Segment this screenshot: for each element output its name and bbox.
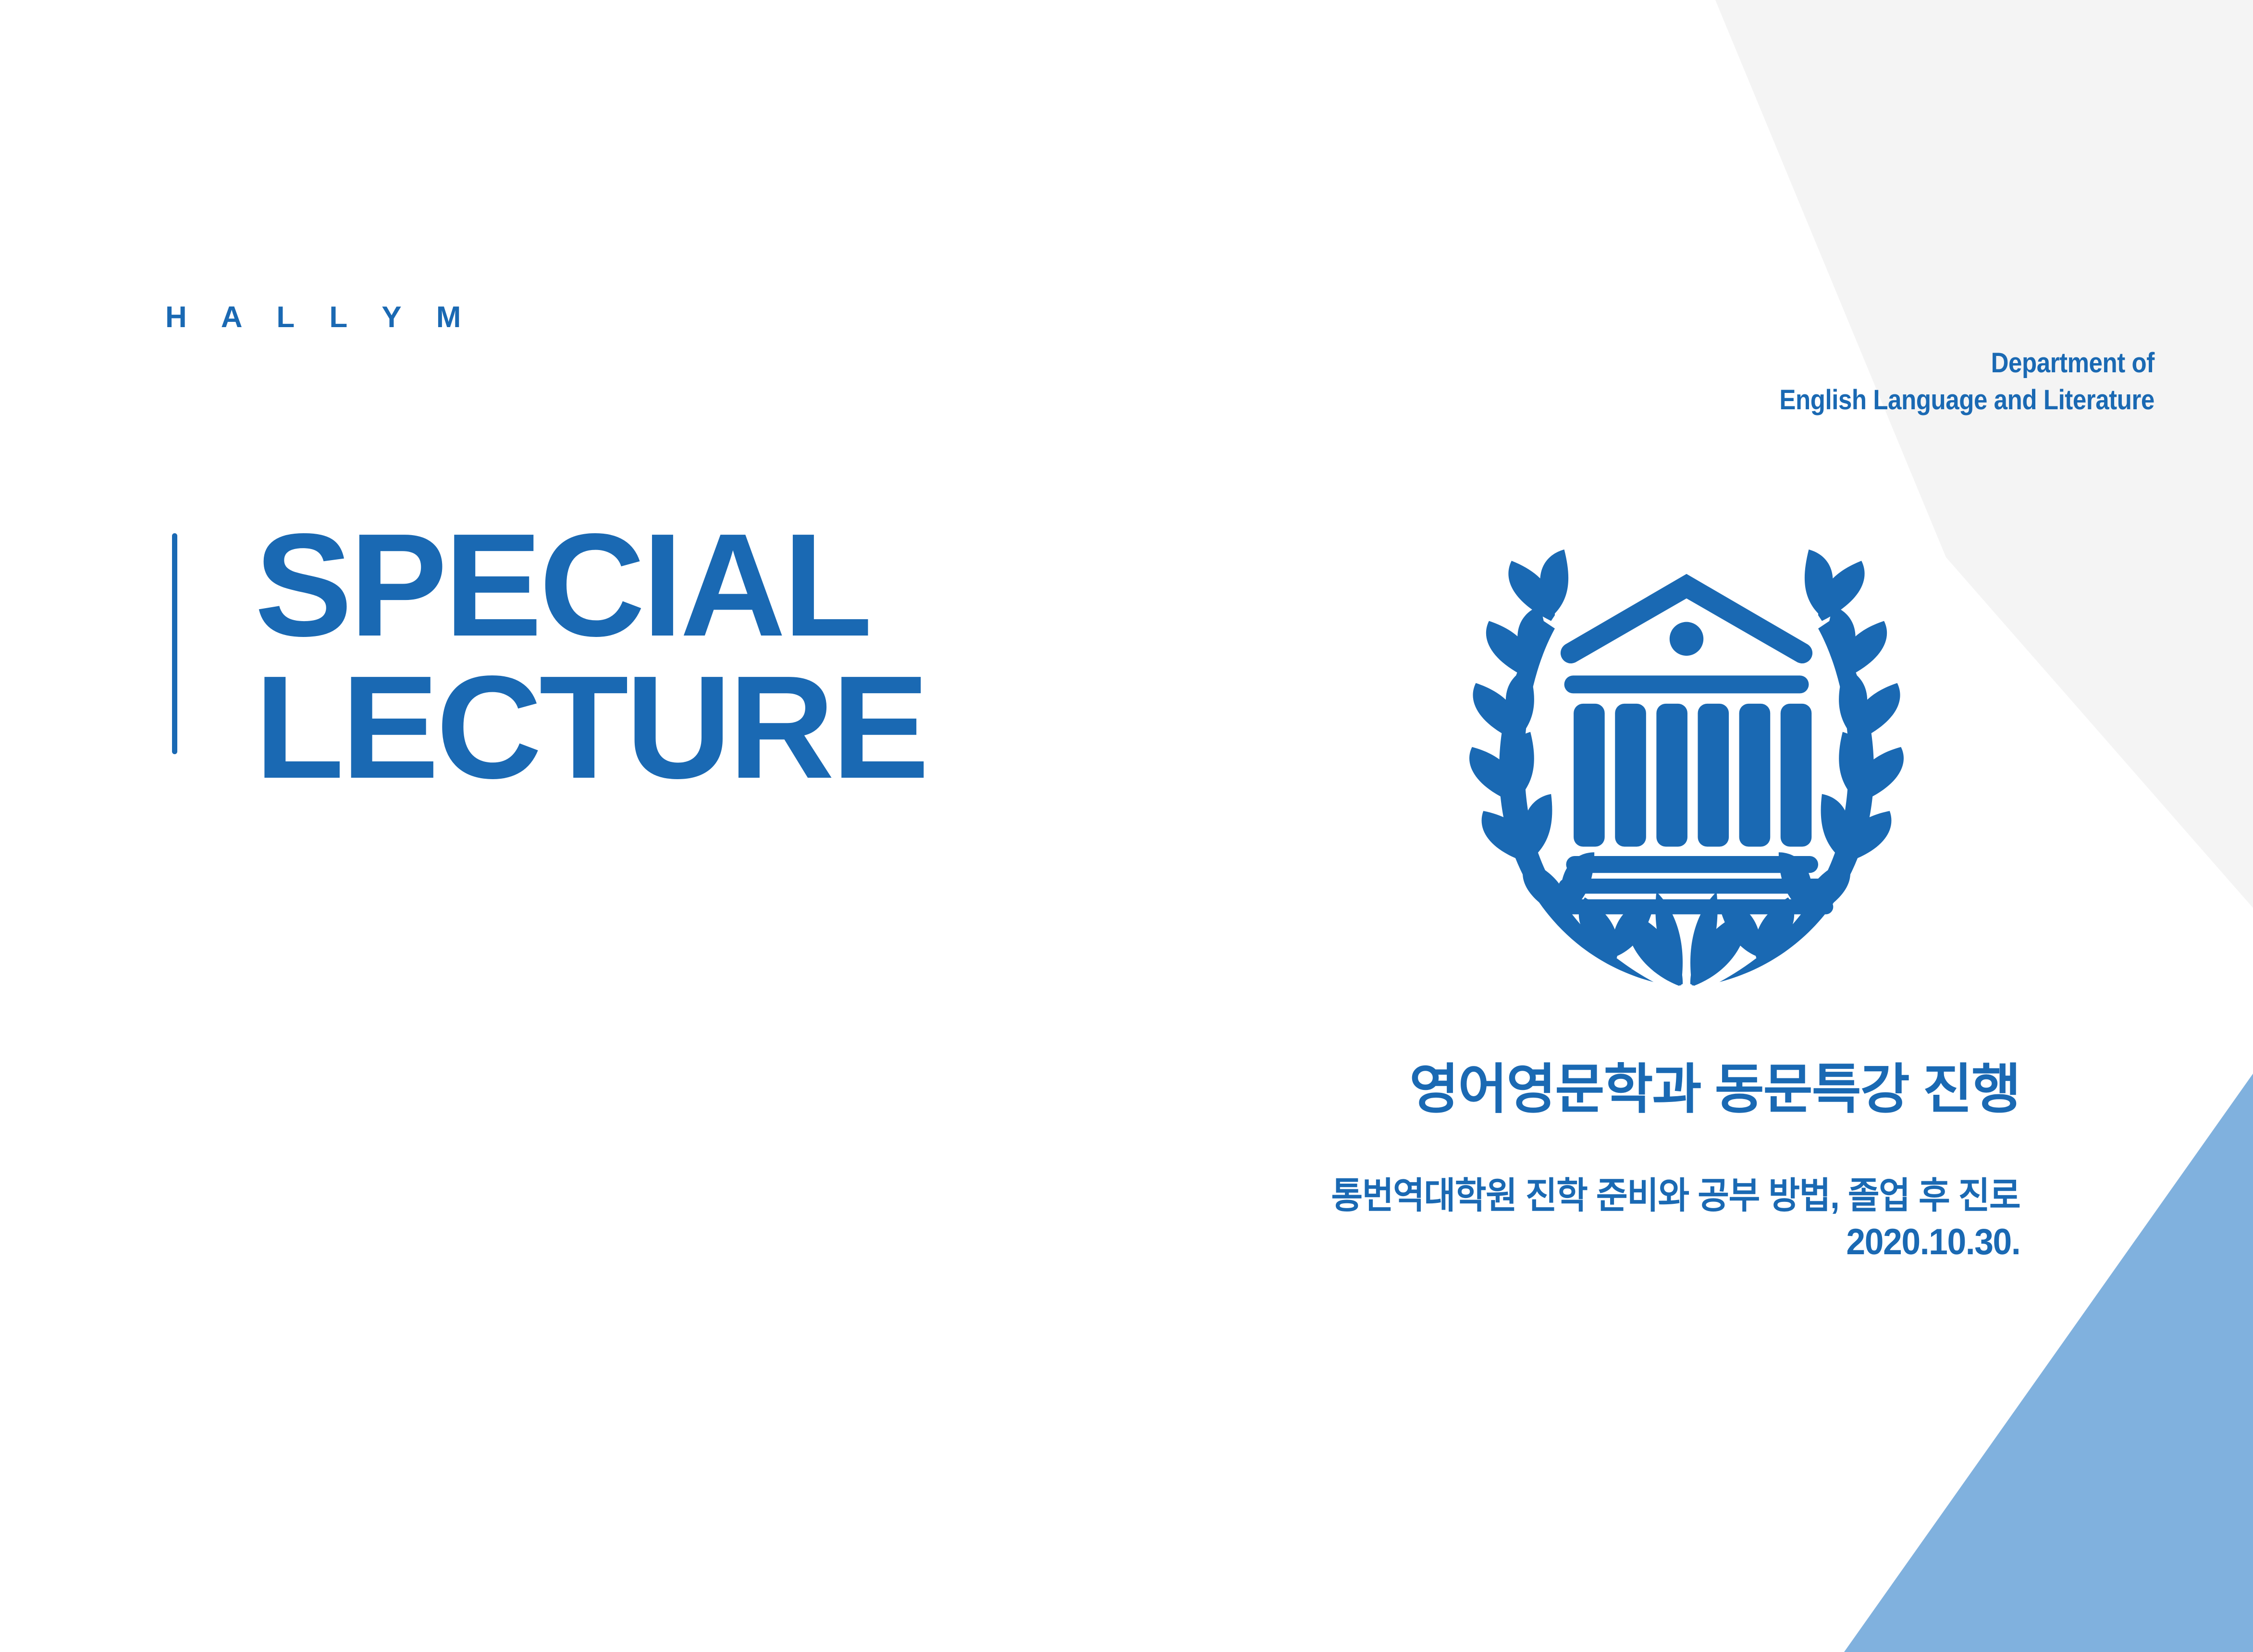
background-decoration — [0, 0, 2253, 1652]
temple-column-4 — [1698, 704, 1729, 847]
lecture-subline: 통번역대학원 진학 준비와 공부 방법, 졸업 후 진로 — [1331, 1173, 2020, 1219]
poster-slide: H A L L Y M Department of English Langua… — [0, 0, 2253, 1652]
title-line-special: SPECIAL — [255, 514, 926, 656]
temple-column-2 — [1615, 704, 1646, 847]
department-line-1: Department of — [1780, 345, 2155, 382]
main-title: SPECIAL LECTURE — [255, 514, 926, 798]
temple-pediment-dot — [1670, 622, 1703, 656]
department-block: Department of English Language and Liter… — [1780, 345, 2155, 418]
lecture-headline: 영어영문학과 동문특강 진행 — [1287, 1059, 2020, 1119]
hallym-wordmark: H A L L Y M — [165, 303, 474, 332]
temple-architrave — [1564, 675, 1809, 693]
temple-column-3 — [1656, 704, 1687, 847]
lecture-date: 2020.10.30. — [1331, 1219, 2020, 1265]
title-vertical-rule — [172, 533, 177, 754]
title-line-lecture: LECTURE — [255, 656, 926, 798]
department-line-2: English Language and Literature — [1780, 382, 2155, 419]
temple-column-6 — [1781, 704, 1812, 847]
laurel-wreath-temple-icon — [1461, 548, 1912, 990]
main-title-group: SPECIAL LECTURE — [172, 514, 926, 798]
lecture-info-block: 영어영문학과 동문특강 진행 통번역대학원 진학 준비와 공부 방법, 졸업 후… — [1287, 1059, 2020, 1265]
temple-column-5 — [1739, 704, 1771, 847]
temple-column-1 — [1574, 704, 1605, 847]
